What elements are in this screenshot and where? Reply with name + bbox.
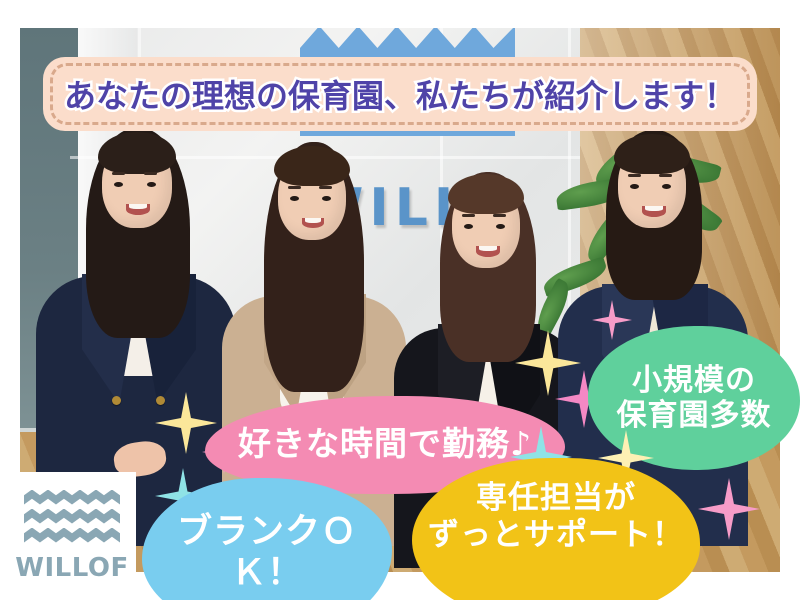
callout-green-text: 小規模の 保育園多数 [617,363,772,434]
callout-yellow-line2: ずっとサポート！ [428,517,684,553]
zigzag-chevron-icon [24,509,120,524]
callout-yellow-line1: 専任担当が [476,480,636,516]
callout-blue-text: ブランクＯＫ！ [142,512,392,595]
callout-yellow-text: 専任担当が ずっとサポート！ [428,480,684,553]
callout-green-line2: 保育園多数 [617,398,772,433]
callout-yellow[interactable]: 専任担当が ずっとサポート！ [412,458,700,600]
zigzag-chevron-icon [24,490,120,505]
callout-green[interactable]: 小規模の 保育園多数 [588,326,800,470]
callout-pink-text: 好きな時間で勤務♪ [238,425,532,464]
headline-text: あなたの理想の保育園、私たちが紹介します！ [64,71,736,117]
callout-green-line1: 小規模の [632,363,756,398]
willof-logo-card[interactable]: WILLOF [8,472,136,600]
willof-wordmark: WILLOF [15,553,128,583]
poster-canvas: WILL [0,0,800,600]
headline-banner: あなたの理想の保育園、私たちが紹介します！ [43,57,757,131]
zigzag-chevron-icon [24,528,120,543]
